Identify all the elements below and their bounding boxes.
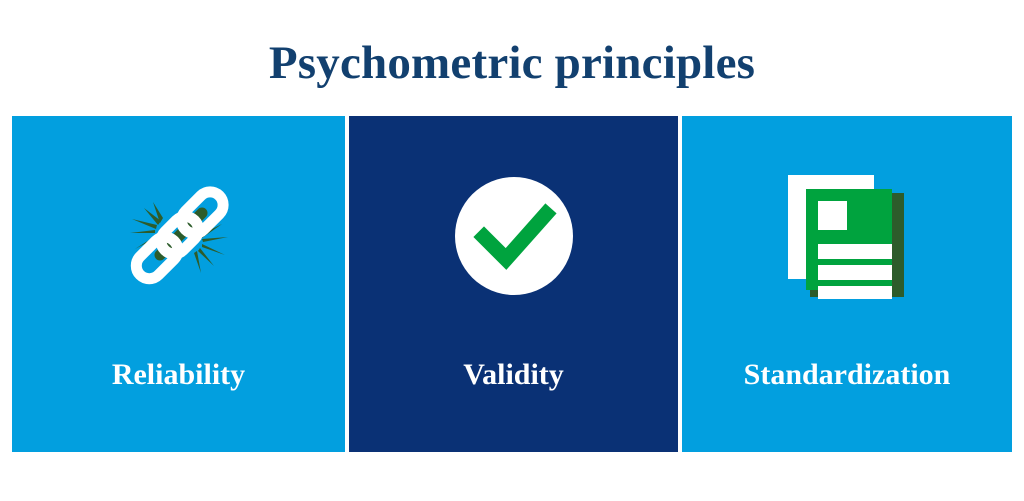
panel-label-standardization: Standardization	[682, 356, 1012, 394]
panel-reliability[interactable]: Reliability	[12, 116, 345, 452]
standardization-icon-area	[682, 116, 1012, 356]
check-circle-icon	[450, 172, 578, 300]
page-title: Psychometric principles	[0, 36, 1024, 90]
principles-panel-group: Reliability Validity	[12, 116, 1012, 452]
reliability-icon-area	[12, 116, 345, 356]
panel-label-validity: Validity	[349, 356, 678, 394]
panel-label-reliability: Reliability	[12, 356, 345, 394]
panel-validity[interactable]: Validity	[349, 116, 678, 452]
broken-chain-icon	[104, 161, 254, 311]
slide-canvas: Psychometric principles	[0, 0, 1024, 501]
documents-icon	[786, 173, 908, 299]
panel-standardization[interactable]: Standardization	[682, 116, 1012, 452]
validity-icon-area	[349, 116, 678, 356]
